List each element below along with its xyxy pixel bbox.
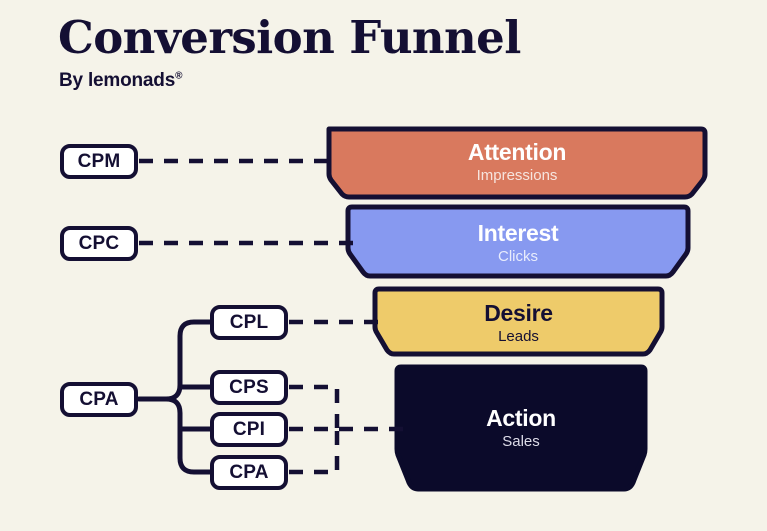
connector-cps-to-bus xyxy=(289,387,337,429)
metric-pill-cpi-label: CPI xyxy=(233,419,265,441)
connector-cpa-child-to-bus xyxy=(289,429,337,472)
infographic-root: Conversion Funnel By lemonads® xyxy=(0,0,767,531)
metric-pill-cpa-child-label: CPA xyxy=(229,462,268,484)
funnel-stage-attention xyxy=(329,129,705,197)
metric-pill-cpm-label: CPM xyxy=(78,151,121,173)
metric-pill-cps[interactable]: CPS xyxy=(210,370,288,405)
metric-pill-cpl-label: CPL xyxy=(230,312,269,334)
cpa-branch-spine xyxy=(139,322,210,472)
metric-pill-cpc[interactable]: CPC xyxy=(60,226,138,261)
funnel-canvas xyxy=(0,0,767,531)
funnel-stage-interest xyxy=(348,207,688,276)
metric-pill-cpa-child[interactable]: CPA xyxy=(210,455,288,490)
metric-pill-cpa-parent-label: CPA xyxy=(79,389,118,411)
funnel-shapes xyxy=(329,129,705,489)
metric-pill-cpl[interactable]: CPL xyxy=(210,305,288,340)
funnel-stage-desire xyxy=(375,289,662,354)
metric-pill-cpa-parent[interactable]: CPA xyxy=(60,382,138,417)
metric-pill-cpi[interactable]: CPI xyxy=(210,412,288,447)
metric-pill-cps-label: CPS xyxy=(229,377,269,399)
metric-pill-cpm[interactable]: CPM xyxy=(60,144,138,179)
cpa-spine-to-cpa-child xyxy=(166,399,210,472)
metric-pill-cpc-label: CPC xyxy=(79,233,120,255)
funnel-stage-action xyxy=(397,367,645,489)
